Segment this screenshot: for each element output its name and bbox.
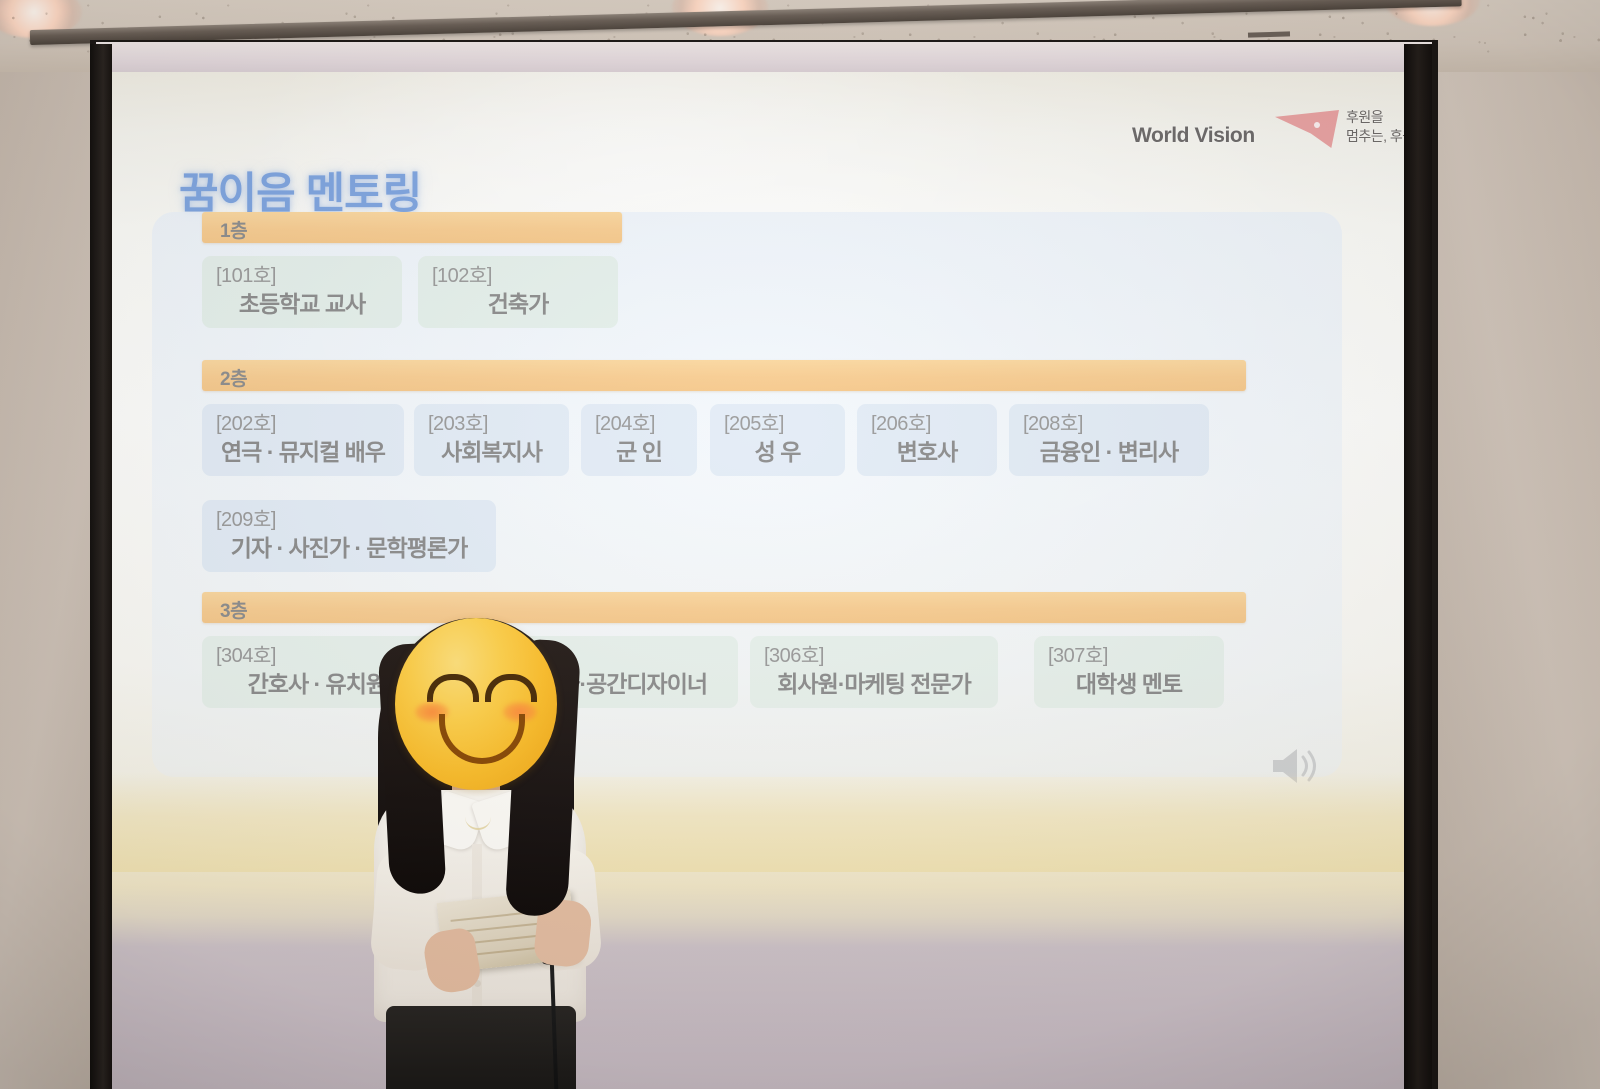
- room-card: [209호]기자 · 사진가 · 문학평론가: [202, 500, 496, 572]
- room-card: [205호]성 우: [710, 404, 845, 476]
- floor-label: 2층: [220, 364, 247, 391]
- floor-label: 3층: [220, 596, 247, 623]
- room-card: [202호]연극 · 뮤지컬 배우: [202, 404, 404, 476]
- room-occupation: 건축가: [432, 289, 604, 319]
- floor-header-bar: 2층: [202, 360, 1246, 391]
- room-number: [209호]: [216, 507, 482, 533]
- room-number: [307호]: [1048, 643, 1210, 669]
- room-card: [204호]군 인: [581, 404, 697, 476]
- room-occupation: 초등학교 교사: [216, 289, 388, 319]
- room-number: [205호]: [724, 411, 831, 437]
- room-number: [102호]: [432, 263, 604, 289]
- screen-right-border: [1404, 44, 1432, 1089]
- room-card: [101호]초등학교 교사: [202, 256, 402, 328]
- room-occupation: 사회복지사: [428, 437, 555, 467]
- left-wall: [0, 62, 104, 1089]
- room-card: [307호]대학생 멘토: [1034, 636, 1224, 708]
- room-number: [206호]: [871, 411, 983, 437]
- tagline-line-1: 후원을: [1346, 108, 1404, 127]
- floor-label: 1층: [220, 216, 247, 243]
- screen-left-border: [90, 44, 112, 1089]
- room-card: [206호]변호사: [857, 404, 997, 476]
- room-occupation: 회사원·마케팅 전문가: [764, 669, 984, 699]
- tagline-line-2: 멈추는, 후원: [1346, 127, 1404, 146]
- smiley-mouth: [439, 714, 525, 764]
- room-number: [306호]: [764, 643, 984, 669]
- room-number: [202호]: [216, 411, 390, 437]
- world-vision-logo: World Vision 후원을 멈추는, 후원: [1132, 106, 1394, 166]
- presentation-slide: 꿈이음 멘토링 World Vision 후원을 멈추는, 후원 1층[101호…: [112, 72, 1404, 1089]
- room-occupation: 군 인: [595, 437, 683, 467]
- room-occupation: 성 우: [724, 437, 831, 467]
- world-vision-mark-icon: [1275, 110, 1339, 148]
- room-number: [204호]: [595, 411, 683, 437]
- right-wall: [1432, 58, 1600, 1089]
- room-card: [208호]금융인 · 변리사: [1009, 404, 1209, 476]
- black-skirt: [386, 1006, 576, 1089]
- smiley-face-emoji: [395, 618, 557, 790]
- star-icon: [1314, 122, 1320, 128]
- room-occupation: 변호사: [871, 437, 983, 467]
- room-number: [208호]: [1023, 411, 1195, 437]
- slide-bottom-band: [112, 772, 1404, 872]
- screen-top-trim: [96, 42, 1432, 76]
- room-card: [102호]건축가: [418, 256, 618, 328]
- conference-room-photo: 꿈이음 멘토링 World Vision 후원을 멈추는, 후원 1층[101호…: [0, 0, 1600, 1089]
- smiley-eye-right: [485, 674, 537, 702]
- room-occupation: 대학생 멘토: [1048, 669, 1210, 699]
- brand-name: World Vision: [1132, 124, 1255, 148]
- smiley-eye-left: [427, 674, 479, 702]
- projection-screen-surface: 꿈이음 멘토링 World Vision 후원을 멈추는, 후원 1층[101호…: [112, 72, 1404, 1089]
- room-number: [203호]: [428, 411, 555, 437]
- floor-header-bar: 1층: [202, 212, 622, 243]
- logo-tagline: 후원을 멈추는, 후원: [1346, 108, 1404, 146]
- room-card: [203호]사회복지사: [414, 404, 569, 476]
- room-occupation: 금융인 · 변리사: [1023, 437, 1195, 467]
- room-occupation: 연극 · 뮤지컬 배우: [216, 437, 390, 467]
- room-occupation: 기자 · 사진가 · 문학평론가: [216, 533, 482, 563]
- room-card: [306호]회사원·마케팅 전문가: [750, 636, 998, 708]
- room-number: [101호]: [216, 263, 388, 289]
